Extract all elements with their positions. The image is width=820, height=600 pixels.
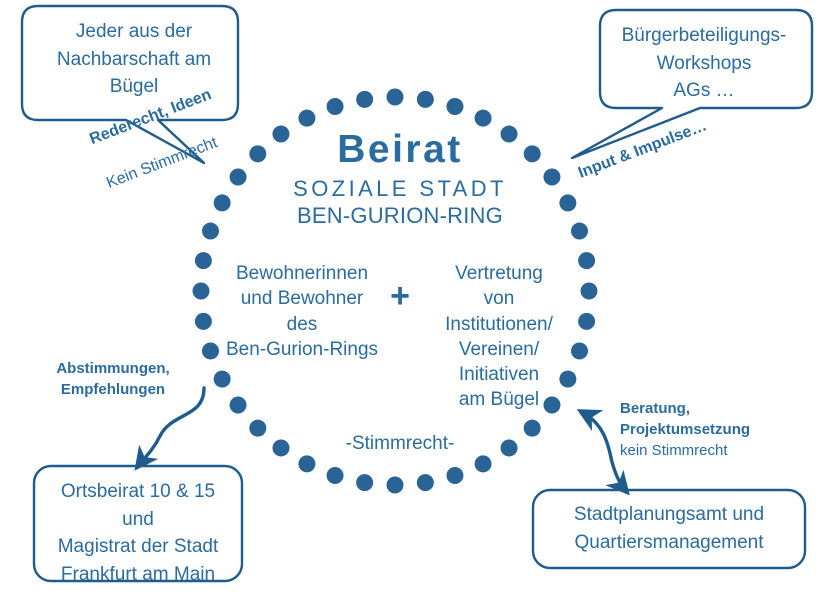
ring-dot [581, 283, 598, 300]
ring-dot [202, 342, 219, 359]
ring-dot [356, 474, 373, 491]
ring-dot [417, 474, 434, 491]
ring-dot [524, 420, 541, 437]
diagram-canvas: Beirat SOZIALE STADT BEN-GURION-RING Bew… [0, 0, 820, 600]
ring-dot [543, 397, 560, 414]
ring-dot [193, 283, 210, 300]
ring-dot [559, 194, 576, 211]
ring-dot [298, 455, 315, 472]
dotted-ring [193, 89, 598, 494]
arrow-abstimmungen [138, 388, 204, 466]
ring-dot [230, 168, 247, 185]
ring-dot [446, 467, 463, 484]
box-br-shape [533, 490, 805, 568]
ring-dot [571, 223, 588, 240]
speech-bubble-top-right[interactable] [572, 10, 812, 158]
ring-dot [559, 371, 576, 388]
ring-dot [446, 98, 463, 115]
ring-dot [417, 91, 434, 108]
ring-dot [578, 252, 595, 269]
ring-dot [202, 223, 219, 240]
arrow-beratung [582, 412, 626, 491]
ring-dot [387, 477, 404, 494]
ring-dot [272, 126, 289, 143]
ring-dot [327, 467, 344, 484]
ring-dot [298, 110, 315, 127]
ring-dot [524, 145, 541, 162]
ring-dot [475, 110, 492, 127]
ring-dot [543, 168, 560, 185]
ring-dot [195, 252, 212, 269]
ring-dot [501, 126, 518, 143]
box-bottom-left[interactable] [34, 466, 242, 581]
ring-dot [230, 397, 247, 414]
box-bl-shape [34, 466, 242, 581]
ring-dot [501, 439, 518, 456]
ring-dot [249, 145, 266, 162]
bubble-tl-shape [22, 6, 238, 163]
speech-bubble-top-left[interactable] [22, 6, 238, 163]
ring-dot [214, 194, 231, 211]
ring-dot [272, 439, 289, 456]
diagram-vector-layer [0, 0, 820, 600]
ring-dot [214, 371, 231, 388]
bubble-tr-shape [572, 10, 812, 158]
ring-dot [327, 98, 344, 115]
ring-dot [475, 455, 492, 472]
ring-dot [578, 313, 595, 330]
ring-dot [356, 91, 373, 108]
ring-dot [387, 89, 404, 106]
box-bottom-right[interactable] [533, 490, 805, 568]
ring-dot [249, 420, 266, 437]
ring-dot [195, 313, 212, 330]
ring-dot [571, 342, 588, 359]
